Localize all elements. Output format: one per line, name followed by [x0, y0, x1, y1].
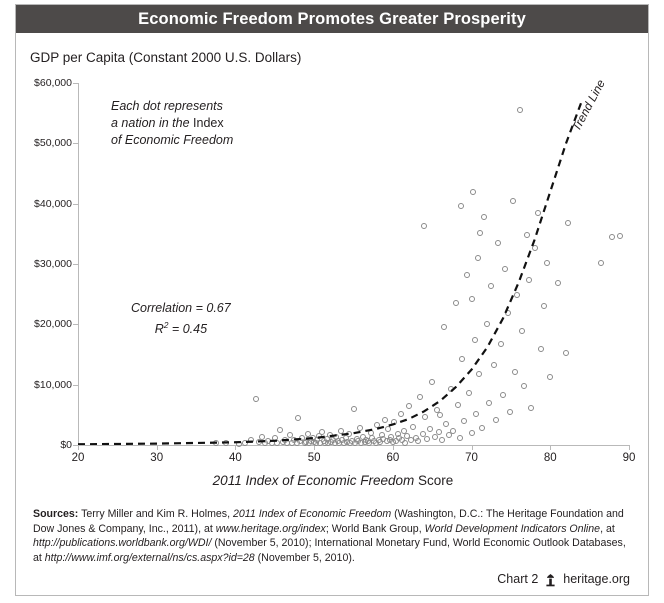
annotation-each-dot: Each dot represents a nation in the Inde… [111, 98, 233, 149]
scatter-point [385, 426, 391, 432]
scatter-point [486, 400, 492, 406]
scatter-point [457, 435, 463, 441]
scatter-point [422, 414, 428, 420]
scatter-point [502, 266, 508, 272]
scatter-point [351, 406, 357, 412]
scatter-point [521, 383, 527, 389]
scatter-point [429, 379, 435, 385]
scatter-point [598, 260, 604, 266]
scatter-point [563, 350, 569, 356]
scatter-point [519, 328, 525, 334]
scatter-point [476, 371, 482, 377]
x-axis-tick-mark [78, 445, 79, 450]
annotation-line-2: a nation in the Index [111, 115, 233, 132]
scatter-point [481, 214, 487, 220]
scatter-point [357, 425, 363, 431]
scatter-point [472, 337, 478, 343]
scatter-point [213, 440, 219, 446]
scatter-point [450, 428, 456, 434]
scatter-point [470, 189, 476, 195]
scatter-point [507, 409, 513, 415]
scatter-point [248, 437, 254, 443]
y-axis-tick-label: $10,000 [34, 379, 72, 391]
scatter-point [453, 300, 459, 306]
scatter-point [319, 429, 325, 435]
scatter-point [421, 223, 427, 229]
scatter-point [446, 432, 452, 438]
chart-footer: Chart 2 heritage.org [497, 572, 630, 586]
scatter-point [461, 418, 467, 424]
y-axis-tick-label: $40,000 [34, 198, 72, 210]
scatter-point [443, 421, 449, 427]
scatter-point [544, 260, 550, 266]
scatter-point [500, 392, 506, 398]
x-axis-tick-label: 90 [623, 452, 636, 464]
scatter-point [223, 440, 229, 446]
scatter-point [526, 277, 532, 283]
scatter-point [505, 310, 511, 316]
scatter-point [517, 107, 523, 113]
scatter-point [391, 419, 397, 425]
scatter-point [455, 402, 461, 408]
scatter-point [469, 430, 475, 436]
scatter-point [441, 324, 447, 330]
scatter-point [295, 415, 301, 421]
scatter-point [398, 411, 404, 417]
scatter-point [535, 210, 541, 216]
scatter-point [495, 240, 501, 246]
scatter-point [410, 424, 416, 430]
scatter-point [427, 426, 433, 432]
annotation-line-1: Each dot represents [111, 98, 233, 115]
scatter-point [555, 280, 561, 286]
scatter-point [439, 437, 445, 443]
scatter-point [491, 362, 497, 368]
scatter-point [256, 439, 262, 445]
scatter-point [415, 438, 421, 444]
y-axis-tick-label: $20,000 [34, 318, 72, 330]
scatter-point [617, 233, 623, 239]
x-axis-tick-label: 50 [308, 452, 321, 464]
scatter-point [277, 427, 283, 433]
scatter-point [466, 390, 472, 396]
scatter-point [493, 417, 499, 423]
annotation-statistics: Correlation = 0.67 R2 = 0.45 [131, 300, 231, 338]
y-axis-tick-label: $50,000 [34, 137, 72, 149]
scatter-point [459, 356, 465, 362]
scatter-point [437, 412, 443, 418]
x-axis-title: 2011 Index of Economic Freedom Score [16, 473, 650, 488]
r-squared-value: R2 = 0.45 [131, 317, 231, 338]
y-axis-tick-label: $60,000 [34, 77, 72, 89]
x-axis-tick-label: 60 [386, 452, 399, 464]
scatter-point [382, 417, 388, 423]
scatter-point [417, 394, 423, 400]
scatter-point [488, 283, 494, 289]
scatter-point [458, 203, 464, 209]
y-axis-tick-mark [73, 83, 78, 84]
x-axis-tick-label: 20 [72, 452, 85, 464]
scatter-point [538, 346, 544, 352]
scatter-point [464, 272, 470, 278]
sources-label: Sources: [33, 508, 78, 520]
y-axis-tick-mark [73, 324, 78, 325]
scatter-point [469, 296, 475, 302]
scatter-point [473, 411, 479, 417]
sources-note: Sources: Terry Miller and Kim R. Holmes,… [33, 507, 633, 565]
y-axis-tick-mark [73, 204, 78, 205]
scatter-point [374, 422, 380, 428]
scatter-point [512, 369, 518, 375]
scatter-point [609, 234, 615, 240]
heritage-site-label: heritage.org [563, 572, 630, 586]
scatter-point [528, 405, 534, 411]
y-axis-tick-mark [73, 385, 78, 386]
x-axis-tick-mark [157, 445, 158, 450]
scatter-point [524, 232, 530, 238]
y-axis-tick-mark [73, 264, 78, 265]
x-axis-tick-label: 30 [150, 452, 163, 464]
x-axis-tick-mark [393, 445, 394, 450]
scatter-point [448, 386, 454, 392]
chart-number: Chart 2 [497, 572, 538, 586]
scatter-point [259, 434, 265, 440]
scatter-point [338, 428, 344, 434]
scatter-point [510, 198, 516, 204]
scatter-point [253, 396, 259, 402]
scatter-point [547, 374, 553, 380]
scatter-point [475, 255, 481, 261]
x-axis-tick-mark [629, 445, 630, 450]
scatter-point [346, 431, 352, 437]
scatter-point [424, 436, 430, 442]
scatter-point [565, 220, 571, 226]
y-axis-tick-mark [73, 143, 78, 144]
annotation-line-3: of Economic Freedom [111, 132, 233, 149]
scatter-point [532, 245, 538, 251]
x-axis-tick-mark [550, 445, 551, 450]
scatter-point [242, 440, 248, 446]
scatter-point [514, 292, 520, 298]
x-axis-tick-label: 80 [544, 452, 557, 464]
y-axis-tick-label: $0 [60, 439, 72, 451]
scatter-point [498, 341, 504, 347]
chart-card: Economic Freedom Promotes Greater Prospe… [15, 4, 649, 596]
scatter-point [477, 230, 483, 236]
scatter-point [484, 321, 490, 327]
scatter-point [406, 403, 412, 409]
scatter-point [479, 425, 485, 431]
x-axis-tick-label: 40 [229, 452, 242, 464]
y-axis-tick-label: $30,000 [34, 258, 72, 270]
scatter-point [436, 429, 442, 435]
x-axis-tick-mark [472, 445, 473, 450]
x-axis-tick-label: 70 [465, 452, 478, 464]
correlation-value: Correlation = 0.67 [131, 300, 231, 317]
heritage-torch-icon [545, 574, 556, 587]
scatter-point [541, 303, 547, 309]
